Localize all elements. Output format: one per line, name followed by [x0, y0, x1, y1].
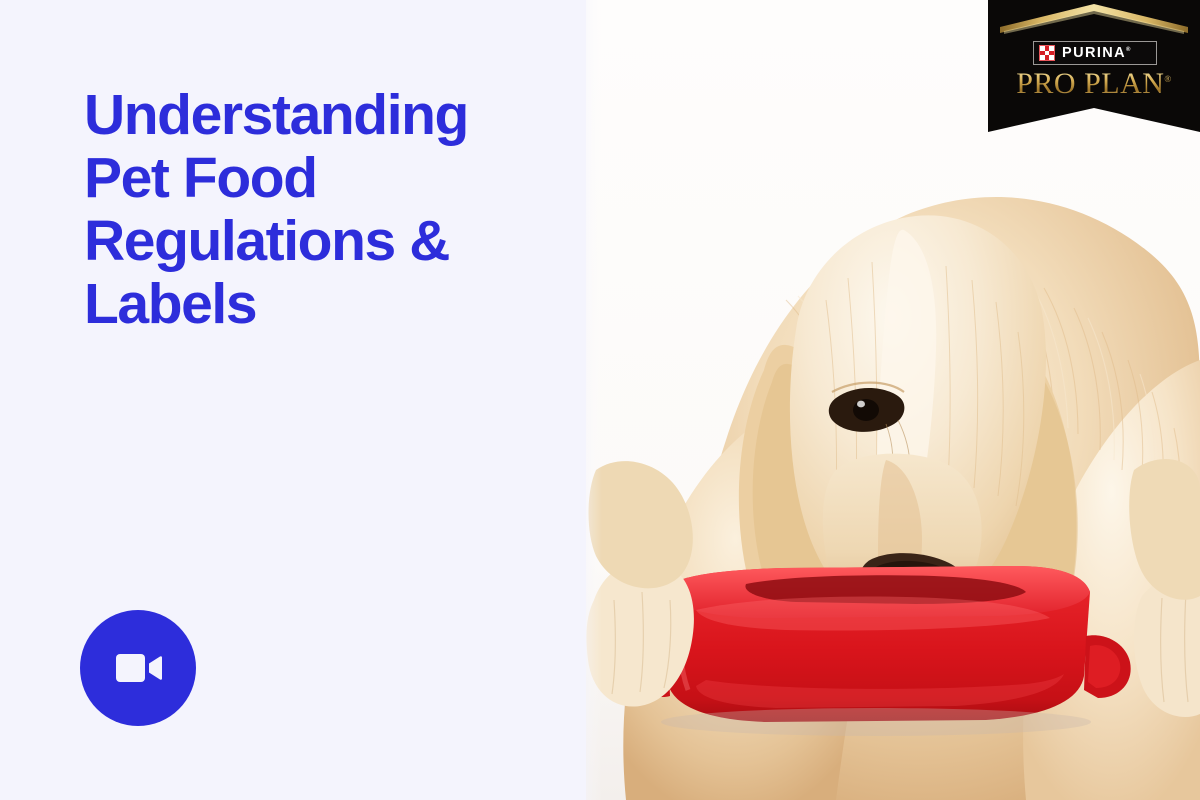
proplan-wordmark: PRO PLAN®	[988, 69, 1200, 99]
proplan-trademark: ®	[1164, 74, 1171, 84]
brand-badge-content: PURINA® PRO PLAN®	[988, 0, 1200, 132]
video-badge[interactable]	[80, 610, 196, 726]
purina-pro-plan-logo: PURINA® PRO PLAN®	[988, 0, 1200, 132]
left-content-panel: Understanding Pet Food Regulations & Lab…	[0, 0, 586, 800]
title-block: Understanding Pet Food Regulations & Lab…	[84, 84, 564, 336]
video-camera-icon	[108, 638, 168, 698]
purina-wordmark-bar: PURINA®	[1033, 41, 1157, 65]
purina-trademark: ®	[1126, 47, 1130, 53]
slide-canvas: Understanding Pet Food Regulations & Lab…	[0, 0, 1200, 800]
purina-checkerboard-icon	[1039, 45, 1055, 61]
page-title: Understanding Pet Food Regulations & Lab…	[84, 84, 564, 336]
purina-wordmark: PURINA®	[1062, 46, 1130, 61]
